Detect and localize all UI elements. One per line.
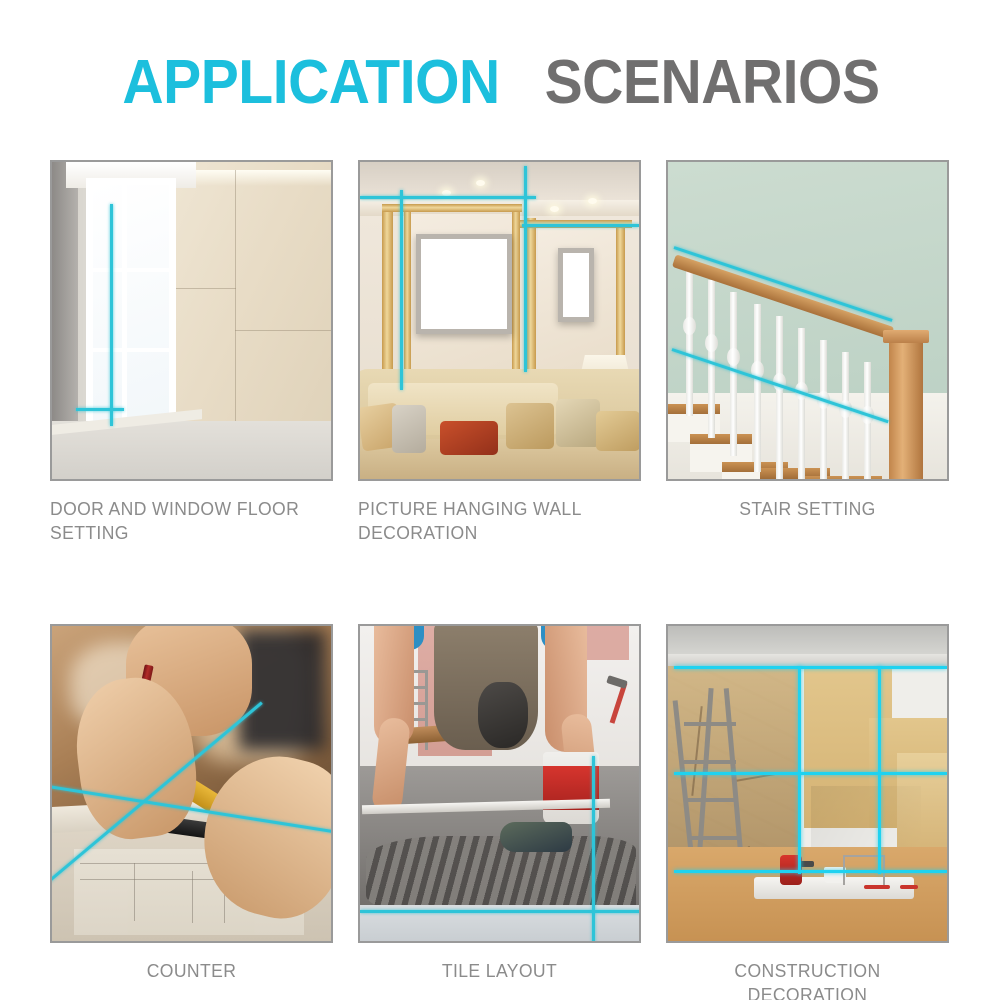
laser-line-vertical [110,204,113,426]
ceiling-beam [668,654,947,666]
panel-seam [235,330,331,331]
page-title-accent: APPLICATION [122,52,499,114]
baluster [864,362,871,481]
newel-post-cap [883,330,929,343]
pillow [392,405,426,453]
ceiling-light [476,180,485,186]
panel-seam [235,170,236,421]
row-spacer [50,546,949,624]
scenario-caption: PICTURE HANGING WALL DECORATION [358,497,627,546]
page-title-muted: SCENARIOS [545,52,880,114]
laser-line-vertical-right [878,666,881,874]
drill-bit [800,861,814,867]
window-mullion-horizontal [86,268,176,272]
pillow [596,411,640,451]
baluster [754,304,761,472]
scenario-card-picture-hanging-wall-decoration[interactable]: PICTURE HANGING WALL DECORATION [358,160,641,546]
scenario-grid: DOOR AND WINDOW FLOOR SETTING [50,160,950,1000]
scenario-image-tile-layout [358,624,641,943]
pillow [556,399,600,447]
laser-line-horizontal [360,910,641,913]
notched-mortar [366,836,636,914]
hand-tool [864,885,890,889]
hand-tool [900,885,918,889]
knee-pad [478,682,528,748]
laser-line-horizontal-bottom [674,870,947,873]
scenario-image-stair-setting [666,160,949,481]
work-shoe [500,822,572,852]
pillow [506,403,554,449]
laser-line-vertical [592,756,595,943]
scenario-card-counter[interactable]: COUNTER [50,624,333,1000]
newel-post [889,338,923,481]
page-title: APPLICATIONSCENARIOS [0,52,1000,114]
laser-line-horizontal [522,224,639,227]
scenario-image-counter [50,624,333,943]
window-frame [86,178,176,430]
gold-moulding-vertical [382,206,393,396]
scenario-card-door-and-window-floor-setting[interactable]: DOOR AND WINDOW FLOOR SETTING [50,160,333,546]
wall-shadow [811,786,921,847]
ladder-step [688,836,740,840]
ceiling-light [550,206,559,212]
window-mullion-horizontal [86,348,176,352]
baluster [686,266,693,416]
gold-moulding-vertical [404,210,411,392]
baluster [708,280,715,438]
laser-line-horizontal-middle [674,772,947,775]
laser-line-horizontal-top [674,666,947,669]
scenario-caption: COUNTER [57,959,326,983]
scenario-image-door-and-window-floor-setting [50,160,333,481]
panel-seam [172,288,236,289]
scenario-caption: CONSTRUCTION DECORATION [673,959,942,1000]
baluster [730,292,737,456]
scenario-caption: STAIR SETTING [673,497,942,521]
ladder-step [684,722,736,726]
baluster [776,316,783,481]
ceiling [668,626,947,656]
scenario-card-stair-setting[interactable]: STAIR SETTING [666,160,949,546]
ladder-step [686,798,738,802]
scenario-caption: DOOR AND WINDOW FLOOR SETTING [50,497,319,546]
blueprint-line [80,879,220,880]
blueprint-line [192,871,193,923]
scenario-image-construction-decoration [666,624,949,943]
scenario-image-picture-hanging-wall-decoration [358,160,641,481]
laser-line-vertical-left [798,666,801,874]
scenario-card-construction-decoration[interactable]: CONSTRUCTION DECORATION [666,624,949,1000]
laser-line-horizontal [360,196,536,199]
laser-line-horizontal [76,408,124,411]
pillow-accent [440,421,498,455]
window-pane [93,185,169,423]
gold-moulding-horizontal [382,204,522,212]
picture-frame-large [416,234,512,334]
scenario-caption: TILE LAYOUT [365,959,634,983]
laser-line-vertical [400,190,403,390]
picture-frame-small [558,248,594,322]
baluster [820,340,827,481]
baluster [842,352,849,481]
ladder-step [684,760,736,764]
scenario-card-tile-layout[interactable]: TILE LAYOUT [358,624,641,1000]
blueprint-line [134,863,135,921]
gold-moulding-vertical [616,224,625,374]
window-mullion-vertical [122,178,127,430]
ceiling-light [588,198,597,204]
baluster [798,328,805,481]
gold-moulding-vertical [526,218,536,386]
application-scenarios-page: APPLICATIONSCENARIOS [0,0,1000,1000]
